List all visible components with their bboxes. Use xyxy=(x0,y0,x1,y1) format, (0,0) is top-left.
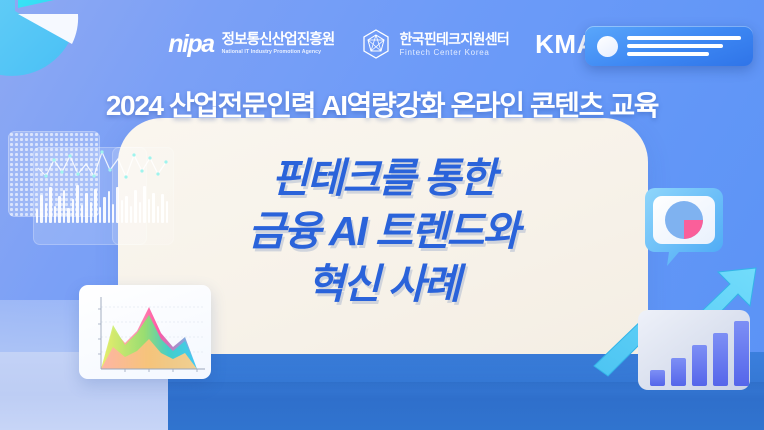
text-lines xyxy=(627,36,741,56)
main-title: 핀테크를 통한 금융 AI 트렌드와 혁신 사례 xyxy=(118,152,648,311)
program-line: 2024 산업전문인력 AI역량강화 온라인 콘텐츠 교육 xyxy=(0,84,764,124)
title-line-1: 핀테크를 통한 xyxy=(118,152,648,205)
avatar xyxy=(597,36,618,57)
promo-banner: nipa 정보통신산업진흥원 National IT Industry Prom… xyxy=(0,0,764,430)
nipa-wordmark: nipa xyxy=(168,32,213,57)
speech-bubble-pie-icon xyxy=(645,186,723,272)
nipa-korean-name: 정보통신산업진흥원 xyxy=(222,33,335,48)
fintech-logo: 한국핀테크지원센터 Fintech Center Korea xyxy=(360,28,509,60)
fintech-korean-name: 한국핀테크지원센터 xyxy=(399,32,509,46)
nipa-english-name: National IT Industry Promotion Agency xyxy=(222,50,335,55)
fintech-english-name: Fintech Center Korea xyxy=(399,49,509,57)
title-line-3: 혁신 사례 xyxy=(118,258,648,311)
fintech-hexagon-logo xyxy=(360,28,392,60)
contact-list-card xyxy=(585,26,753,66)
nipa-logo: nipa 정보통신산업진흥원 National IT Industry Prom… xyxy=(168,32,334,57)
3d-bar-chart-icon xyxy=(636,300,758,392)
title-line-2: 금융 AI 트렌드와 xyxy=(118,205,648,258)
